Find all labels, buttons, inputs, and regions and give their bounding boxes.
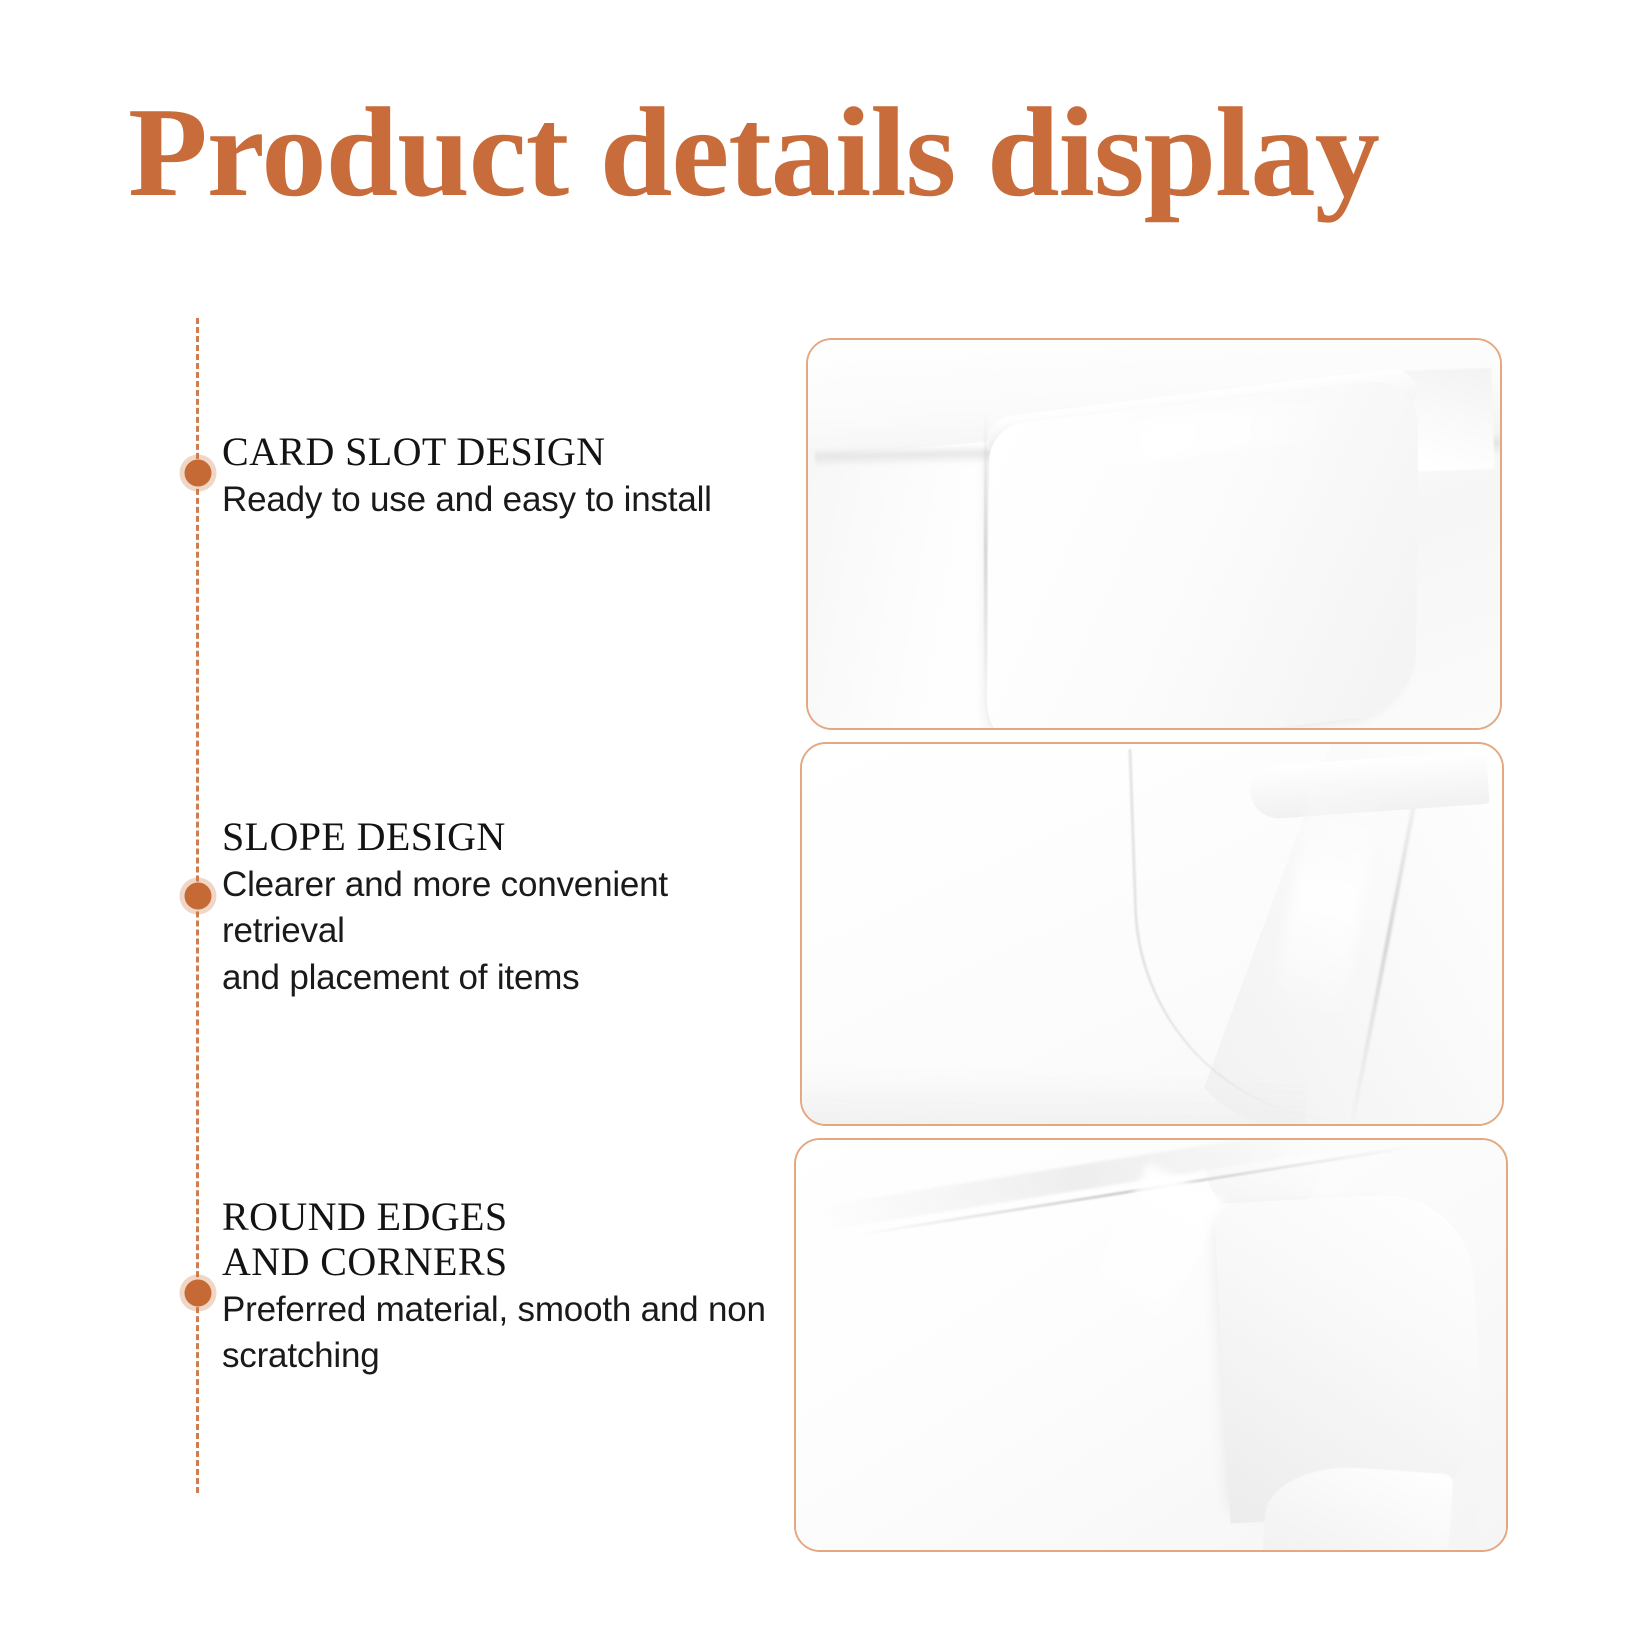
feature-title: ROUND EDGES AND CORNERS (222, 1195, 782, 1285)
feature-description: Preferred material, smooth and non scrat… (222, 1287, 782, 1380)
feature-block-card-slot-design: CARD SLOT DESIGN Ready to use and easy t… (222, 430, 782, 523)
feature-description: Ready to use and easy to install (222, 477, 782, 524)
feature-block-slope-design: SLOPE DESIGN Clearer and more convenient… (222, 815, 782, 1001)
feature-timeline (196, 318, 200, 1493)
product-photo-round-edges-and-corners (794, 1138, 1508, 1552)
feature-title: CARD SLOT DESIGN (222, 430, 782, 475)
product-photo-card-slot-design (806, 338, 1502, 730)
page-title: Product details display (128, 88, 1576, 216)
timeline-dot-round-edges-and-corners (185, 1280, 212, 1307)
timeline-dot-card-slot-design (185, 460, 212, 487)
product-photo-slope-design (800, 742, 1504, 1126)
feature-block-round-edges-and-corners: ROUND EDGES AND CORNERS Preferred materi… (222, 1195, 782, 1380)
feature-description: Clearer and more convenient retrieval an… (222, 862, 782, 1002)
timeline-dot-slope-design (185, 883, 212, 910)
product-photo-image (802, 744, 1502, 1124)
product-photo-image (796, 1140, 1506, 1550)
product-photo-image (808, 340, 1500, 728)
feature-title: SLOPE DESIGN (222, 815, 782, 860)
